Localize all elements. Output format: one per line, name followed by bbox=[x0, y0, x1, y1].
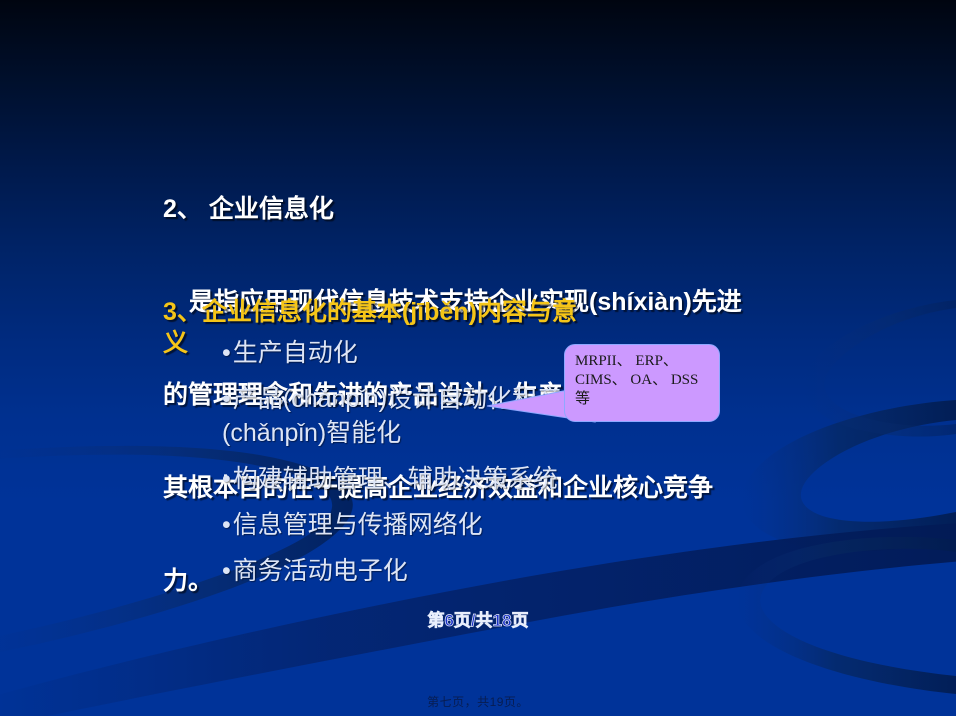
list-item: 商务活动电子化 bbox=[222, 554, 652, 588]
slide-footer: 第七页，共19页。 bbox=[0, 693, 956, 710]
callout-balloon: MRPII、 ERP、 CIMS、 OA、 DSS 等 bbox=[487, 344, 727, 439]
list-item: 信息管理与传播网络化 bbox=[222, 508, 652, 542]
callout-text: MRPII、 ERP、 CIMS、 OA、 DSS 等 bbox=[564, 344, 720, 422]
list-item: 构建辅助管理、辅助决策系统 bbox=[222, 462, 652, 496]
page-watermark: 第6页/共18页 bbox=[0, 606, 956, 631]
presentation-slide: 2、 企业信息化 是指应用现代信息技术支持企业实现(shíxiàn)先进 的管理… bbox=[0, 0, 956, 716]
section2-title: 2、 企业信息化 bbox=[163, 194, 783, 225]
